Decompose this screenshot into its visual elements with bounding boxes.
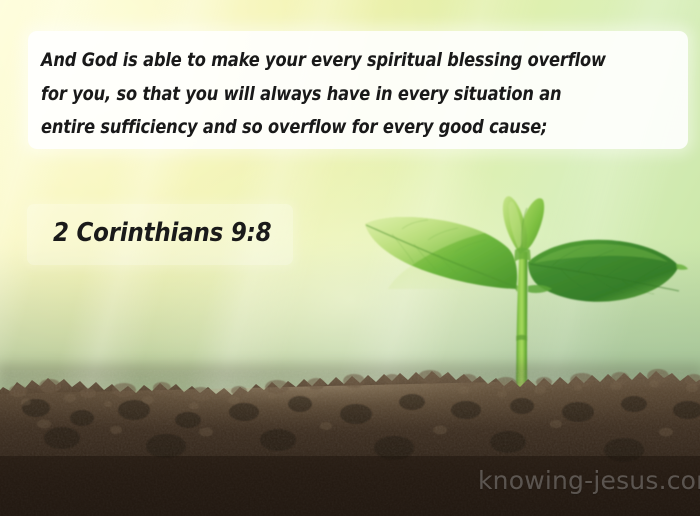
reference-label: 2 Corinthians 9:8 — [53, 218, 271, 248]
verse-text: And God is able to make your every spiri… — [41, 44, 663, 145]
soil-shape — [0, 360, 700, 516]
verse-card: And God is able to make your every spiri… — [28, 31, 688, 149]
reference-card: 2 Corinthians 9:8 — [27, 204, 293, 265]
verse-image: And God is able to make your every spiri… — [0, 0, 700, 516]
soil-mound — [0, 360, 700, 516]
